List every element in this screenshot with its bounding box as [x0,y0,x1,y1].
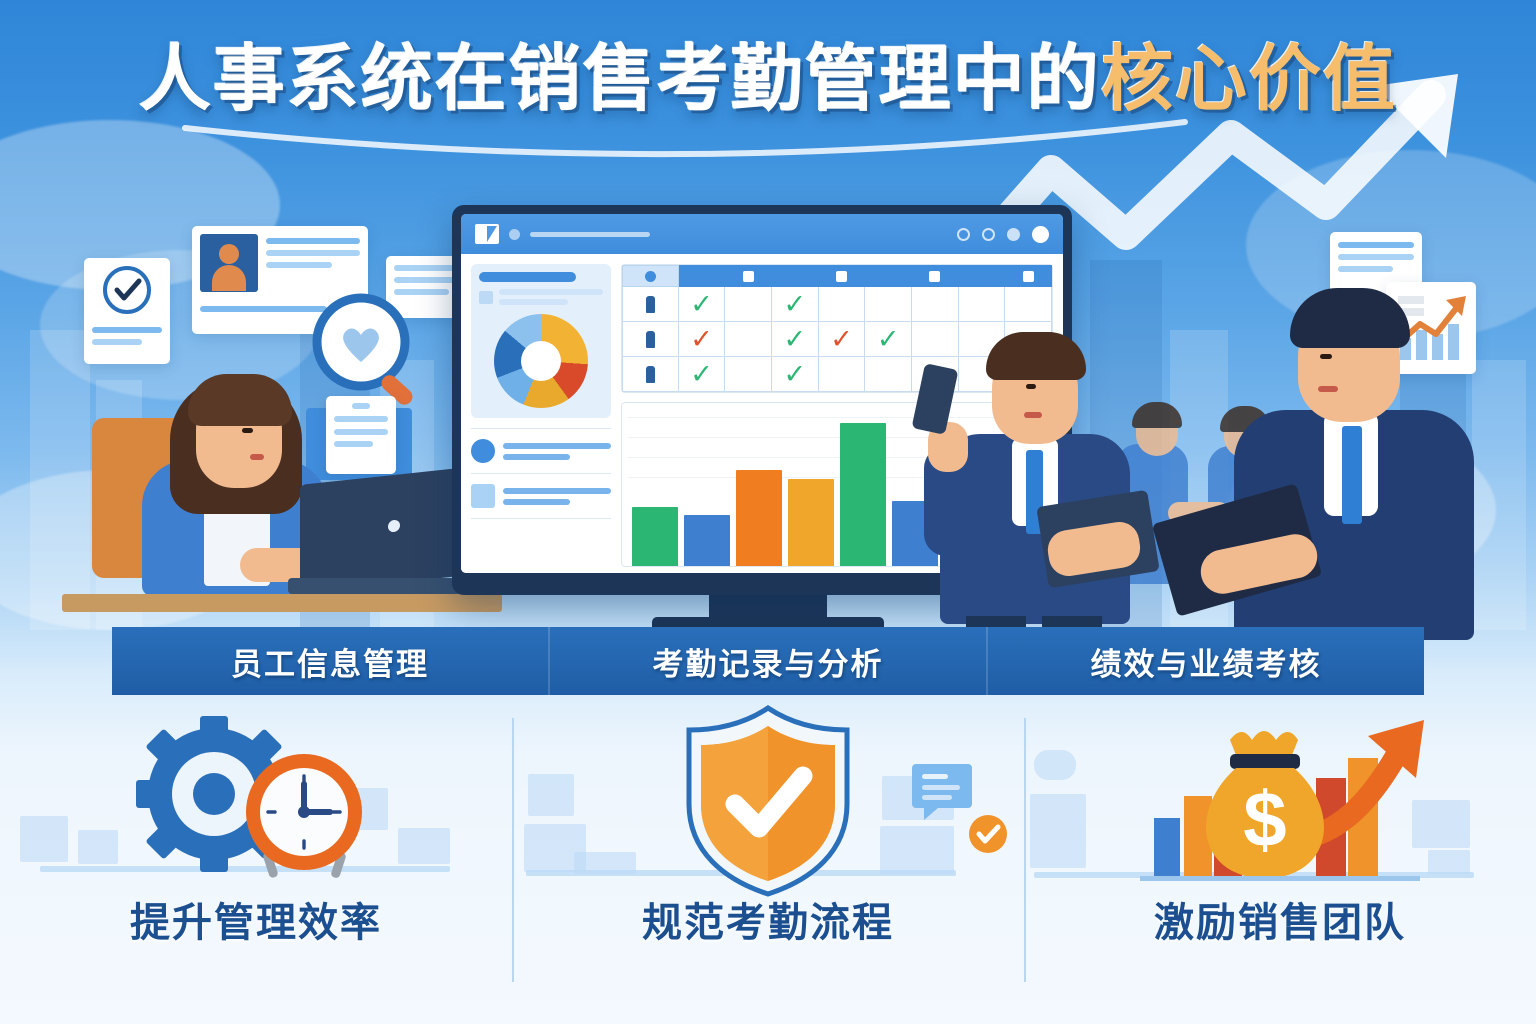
donut-chart [494,314,588,408]
check-red-icon: ✓ [679,326,725,353]
laptop-icon [300,467,468,593]
row-employee-cell [623,357,679,392]
attendance-cell [818,357,865,392]
table-header-cell[interactable] [818,266,865,287]
attendance-cell: ✓ [678,322,725,357]
app-logo-icon [475,224,499,244]
check-green-icon: ✓ [772,326,818,353]
square-thumb-icon [471,484,495,508]
attendance-cell: ✓ [772,287,819,322]
svg-text:$: $ [1243,775,1286,863]
benefits-section: 提升管理效率 [0,700,1536,1024]
bar [632,507,678,566]
man-with-phone-and-tablet [930,330,1160,660]
attendance-cell: ✓ [865,322,912,357]
window-control-restore-icon[interactable] [1007,228,1020,241]
row-employee-cell [623,287,679,322]
attendance-cell [865,357,912,392]
band-label: 绩效与业绩考核 [1091,639,1322,684]
table-header-row [623,266,1052,287]
attendance-cell: ✓ [678,357,725,392]
attendance-cell: ✓ [772,322,819,357]
shield-check-icon [512,700,1024,890]
band-label: 员工信息管理 [231,639,429,684]
page-title: 人事系统在销售考勤管理中的核心价值 [0,44,1536,116]
benefit-panel-efficiency[interactable]: 提升管理效率 [0,700,512,1024]
menu-dot-icon[interactable] [509,229,520,240]
benefit-panel-standardization[interactable]: 规范考勤流程 [512,700,1024,1024]
dashboard-sidebar [471,264,611,567]
table-header-cell[interactable] [725,266,772,287]
attendance-cell [725,287,772,322]
list-item[interactable] [471,484,611,508]
table-header-cell[interactable] [865,266,912,287]
window-control-minimize-icon[interactable] [957,228,970,241]
bar [736,470,782,566]
check-badge-icon [966,812,1010,856]
table-header-cell[interactable] [1005,266,1052,287]
check-green-icon: ✓ [679,291,725,318]
table-corner-cell [623,266,679,287]
title-main-text: 人事系统在销售考勤管理中的 [139,40,1101,120]
gear-clock-icon [0,700,512,890]
category-band: 员工信息管理 考勤记录与分析 绩效与业绩考核 [112,627,1424,695]
bar [788,479,834,566]
band-label: 考勤记录与分析 [653,639,884,684]
attendance-cell [958,287,1005,322]
url-bar-icon[interactable] [530,232,650,237]
app-title-bar [461,214,1063,254]
attendance-cell [865,287,912,322]
benefit-panel-incentive[interactable]: $ 激励销售团队 [1024,700,1536,1024]
table-header-cell[interactable] [678,266,725,287]
bar [684,515,730,566]
check-green-icon: ✓ [679,361,725,388]
check-green-icon: ✓ [772,361,818,388]
attendance-cell: ✓ [818,322,865,357]
list-item[interactable] [471,439,611,463]
benefit-label: 激励销售团队 [1154,890,1406,948]
check-green-icon: ✓ [865,326,911,353]
skyline-building [30,330,90,630]
attendance-cell: ✓ [772,357,819,392]
donut-chart-card [471,264,611,418]
table-header-cell[interactable] [772,266,819,287]
check-green-icon: ✓ [772,291,818,318]
attendance-cell [725,322,772,357]
money-bag-growth-icon: $ [1024,700,1536,890]
check-circle-icon [84,258,170,320]
title-accent-text: 核心价值 [1101,40,1397,120]
attendance-cell [818,287,865,322]
table-header-cell[interactable] [911,266,958,287]
band-item-employee-info-management[interactable]: 员工信息管理 [112,627,550,695]
profile-pill [479,272,576,282]
benefit-label: 提升管理效率 [130,890,382,948]
avatar-chip [479,291,493,304]
circle-avatar-icon [471,439,495,463]
attendance-cell [725,357,772,392]
band-item-attendance-record-analysis[interactable]: 考勤记录与分析 [550,627,988,695]
table-header-cell[interactable] [958,266,1005,287]
check-red-icon: ✓ [819,326,865,353]
woman-at-laptop [92,330,472,630]
businessman-with-tablet [1220,280,1520,630]
band-item-performance-assessment[interactable]: 绩效与业绩考核 [988,627,1424,695]
attendance-cell [911,287,958,322]
attendance-cell: ✓ [678,287,725,322]
desk [62,594,502,612]
infographic-poster: 人事系统在销售考勤管理中的核心价值 [0,0,1536,1024]
window-control-close-icon[interactable] [1032,226,1049,243]
bar [840,423,886,566]
row-employee-cell [623,322,679,357]
attendance-cell [1005,287,1052,322]
avatar [200,234,258,292]
table-row[interactable]: ✓ ✓ [623,287,1052,322]
window-control-maximize-icon[interactable] [982,228,995,241]
